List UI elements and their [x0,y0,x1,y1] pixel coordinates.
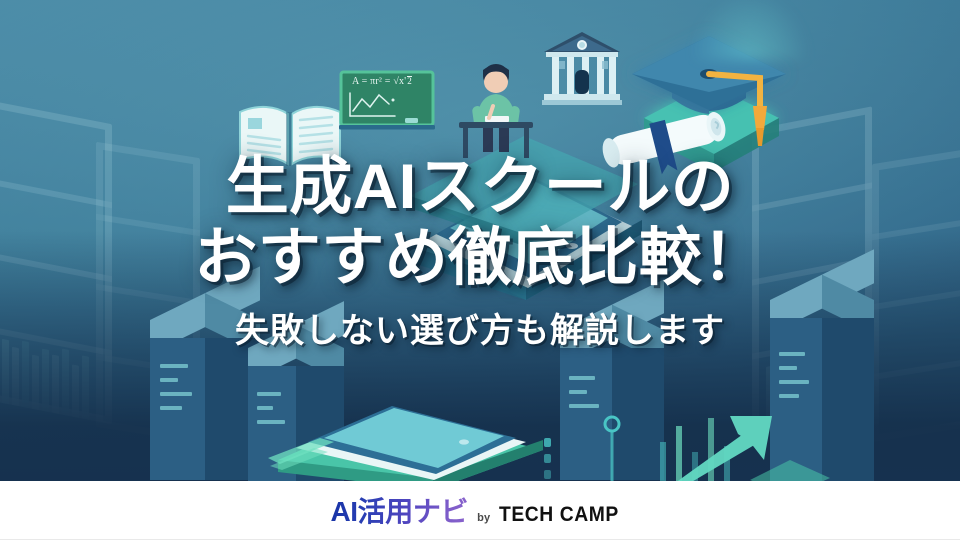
footer-logo-bar: AI活用ナビ by TECH CAMP [0,481,960,540]
brand-logo-by: by [477,512,490,524]
cap-light-ray [690,0,810,60]
hero-illustration: A = πr² = √x'2 [0,0,960,481]
article-hero-banner: A = πr² = √x'2 [0,0,960,540]
hero-title-line-1: 生成AIスクールの [0,152,960,223]
formula-left: A = πr² = √x' [352,76,406,87]
hero-text-block: 生成AIスクールの おすすめ徹底比較！ 失敗しない選び方も解説します [0,152,960,352]
stacked-books-bottom-icon [268,398,558,481]
university-building-icon [542,30,622,108]
hero-title-line-2: おすすめ徹底比較！ [0,223,960,294]
brand-logo[interactable]: AI活用ナビ by TECH CAMP [330,490,629,530]
brand-logo-main: AI活用ナビ [330,490,468,530]
hero-subtitle: 失敗しない選び方も解説します [0,311,960,352]
growth-arrow-icon [660,410,790,481]
student-at-desk-icon [455,62,537,160]
formula-denominator: 2 [407,76,412,87]
brand-logo-techcamp: TECH CAMP [499,503,619,527]
blackboard-formula-text: A = πr² = √x'2 [352,76,426,87]
